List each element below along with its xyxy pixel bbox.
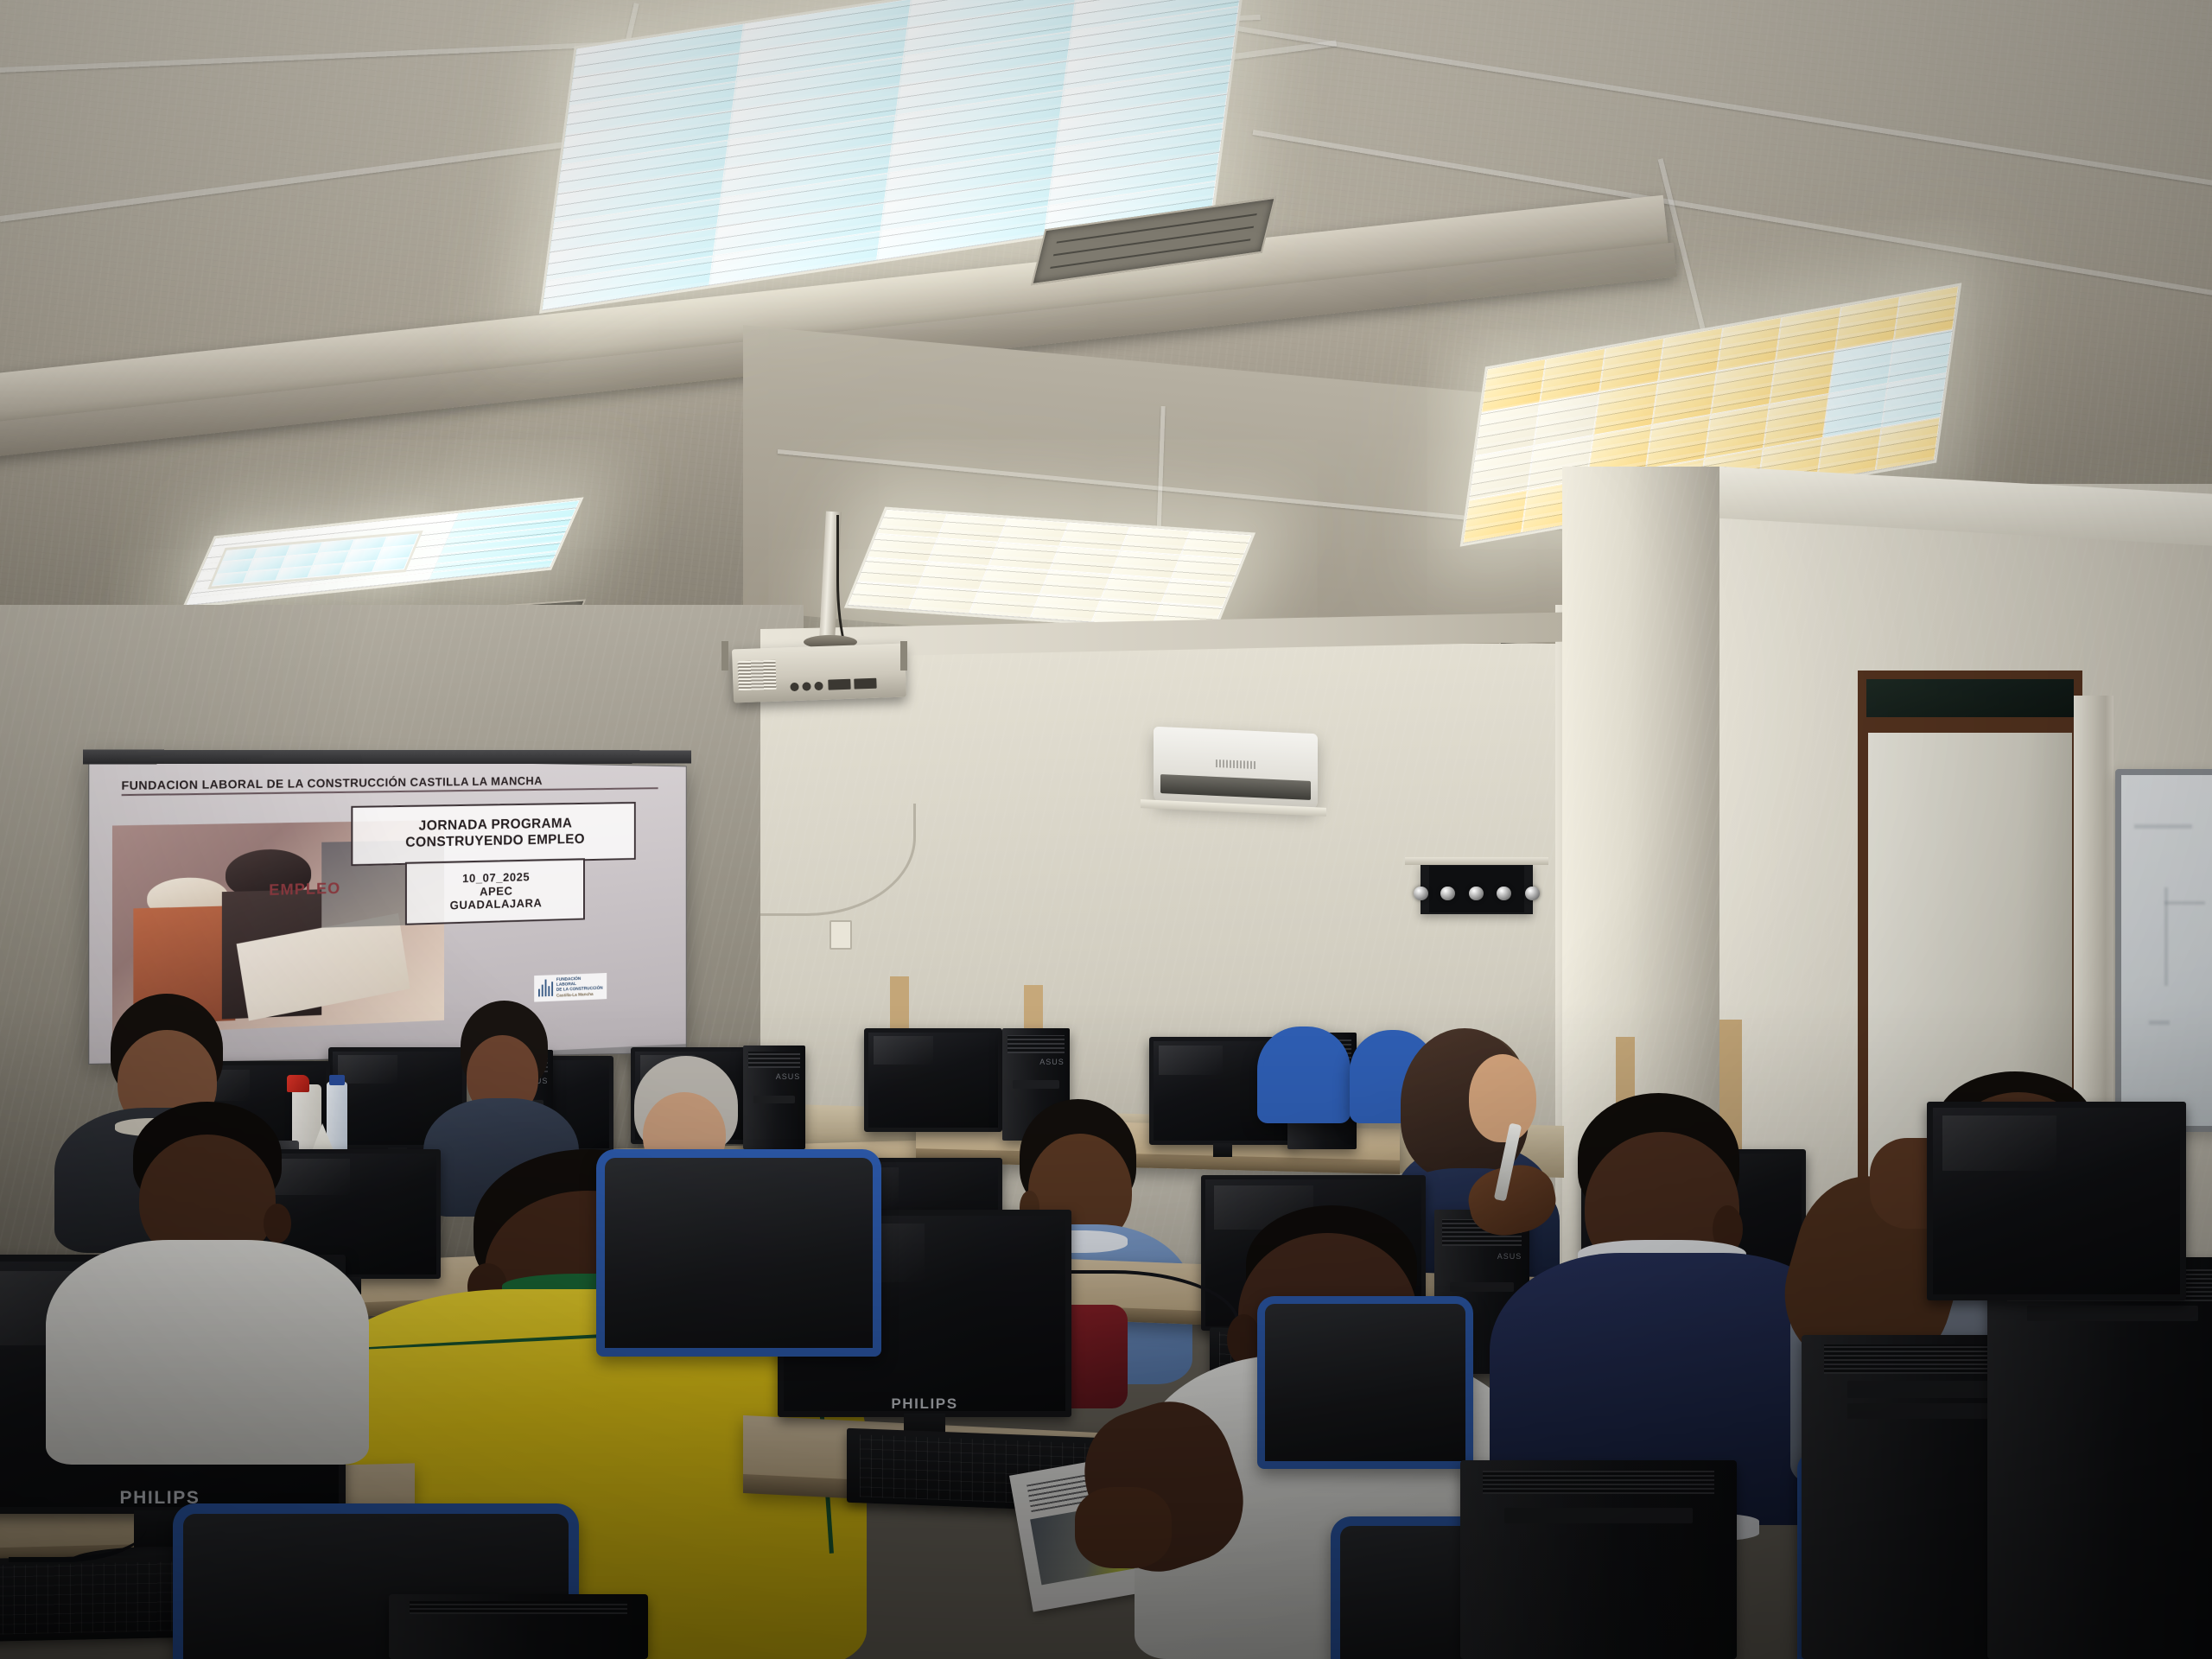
- chair-yellow-jersey[interactable]: [596, 1149, 881, 1357]
- chair-navy-polo[interactable]: [1257, 1296, 1473, 1469]
- slide-foundation-logo: FUNDACIÓN LABORAL DE LA CONSTRUCCIÓN Cas…: [534, 973, 607, 1002]
- slide-venue: APEC: [480, 884, 512, 899]
- projector-port: [814, 682, 823, 690]
- logo-line4: Castilla-La Mancha: [556, 991, 603, 998]
- projector-port: [790, 683, 798, 691]
- desktop-tower-front-center: [1460, 1460, 1737, 1659]
- projector-vent-grille: [737, 659, 776, 690]
- ear: [264, 1204, 291, 1243]
- slide-title-line2: CONSTRUYENDO EMPLEO: [405, 832, 585, 852]
- spray-bottle-trigger: [287, 1075, 309, 1092]
- empty-chair-rear-1[interactable]: [1257, 1027, 1351, 1123]
- screen-roller-casing: [83, 750, 691, 765]
- spotlight-head-icon: [1525, 887, 1540, 901]
- wall-socket: [829, 920, 852, 950]
- monitor-front-right: [1927, 1102, 2186, 1300]
- slide-city: GUADALAJARA: [450, 897, 543, 913]
- spotlight-head-icon: [1469, 887, 1484, 901]
- ceiling-projector: [732, 644, 906, 703]
- air-conditioner-unit: [1154, 727, 1318, 810]
- desktop-tower-front-right-2: [1987, 1257, 2212, 1659]
- projector-bracket-arm: [721, 641, 728, 671]
- desktop-tower-front-left: [389, 1594, 648, 1659]
- slide-date: 10_07_2025: [462, 870, 530, 886]
- torso: [46, 1240, 369, 1465]
- spotlight-shelf: [1405, 857, 1548, 865]
- logo-bars-icon: [538, 980, 554, 997]
- slide-title-box: JORNADA PROGRAMA CONSTRUYENDO EMPLEO: [351, 802, 635, 866]
- wall-spotlight-bar: [1421, 864, 1533, 914]
- ac-brand-plate: [1216, 760, 1255, 769]
- projector-vga-port: [854, 678, 876, 690]
- slide-keyword-empleo: EMPLEO: [269, 880, 340, 899]
- attendee-left-white-shirt: [52, 1102, 363, 1465]
- spotlight-head-icon: [1414, 887, 1428, 901]
- monitor-brand-label: PHILIPS: [891, 1395, 957, 1413]
- projector-port: [802, 682, 810, 690]
- water-bottle-cap: [329, 1075, 345, 1085]
- slide-header: FUNDACION LABORAL DE LA CONSTRUCCIÓN CAS…: [121, 773, 658, 796]
- slide-info-box: 10_07_2025 APEC GUADALAJARA: [405, 858, 585, 925]
- projector-bracket-arm: [900, 641, 907, 671]
- hand: [1075, 1487, 1172, 1569]
- classroom-scene: FUNDACION LABORAL DE LA CONSTRUCCIÓN CAS…: [0, 0, 2212, 1659]
- door-transom-glass: [1858, 671, 2082, 726]
- ac-louver: [1160, 774, 1312, 801]
- projector-vga-port: [828, 679, 850, 690]
